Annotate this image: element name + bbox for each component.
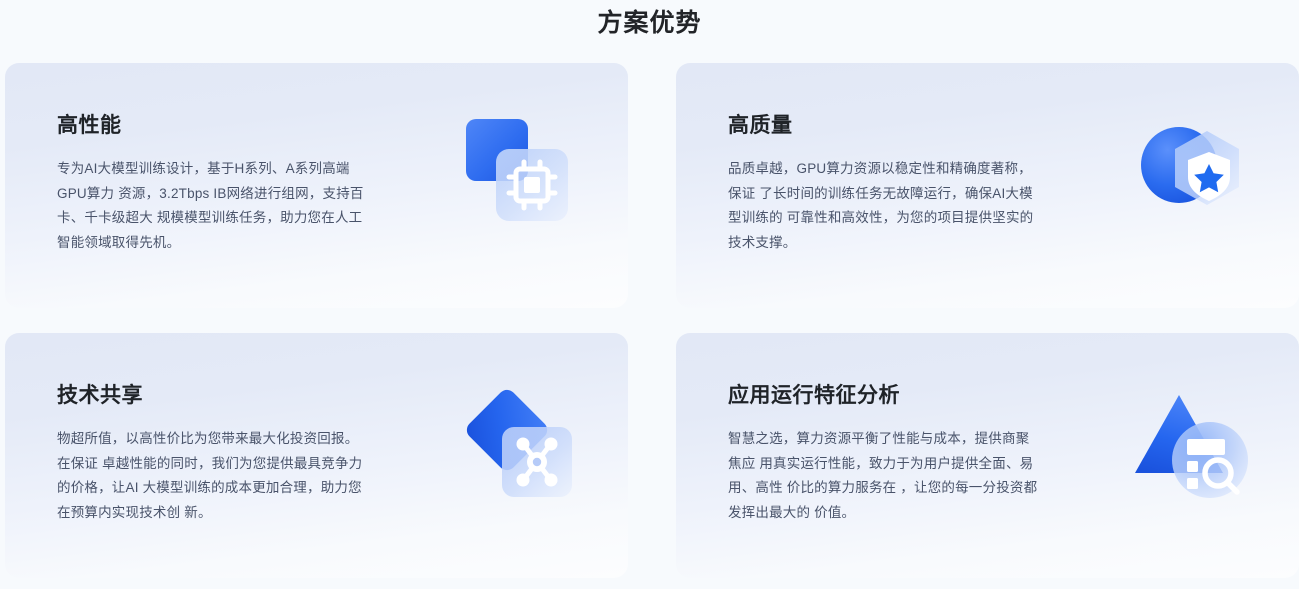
card-description: 物超所值，以高性价比为您带来最大化投资回报。 在保证 卓越性能的同时，我们为您提… bbox=[57, 427, 437, 525]
advantage-card-high-performance[interactable]: 高性能 专为AI大模型训练设计，基于H系列、A系列高端 GPU算力 资源，3.2… bbox=[5, 63, 628, 308]
card-description: 专为AI大模型训练设计，基于H系列、A系列高端 GPU算力 资源，3.2Tbps… bbox=[57, 157, 437, 255]
shield-hexagon-icon bbox=[1129, 111, 1257, 239]
advantages-section: 方案优势 高性能 专为AI大模型训练设计，基于H系列、A系列高端 GPU算力 资… bbox=[0, 0, 1299, 589]
advantage-card-grid: 高性能 专为AI大模型训练设计，基于H系列、A系列高端 GPU算力 资源，3.2… bbox=[0, 63, 1299, 578]
advantage-card-app-runtime-analysis[interactable]: 应用运行特征分析 智慧之选，算力资源平衡了性能与成本，提供商聚 焦应 用真实运行… bbox=[676, 333, 1299, 578]
network-share-diamond-icon bbox=[458, 381, 586, 509]
advantage-card-technology-sharing[interactable]: 技术共享 物超所值，以高性价比为您带来最大化投资回报。 在保证 卓越性能的同时，… bbox=[5, 333, 628, 578]
page-title: 方案优势 bbox=[0, 0, 1299, 46]
card-description: 智慧之选，算力资源平衡了性能与成本，提供商聚 焦应 用真实运行性能，致力于为用户… bbox=[728, 427, 1108, 525]
chip-squares-icon bbox=[458, 111, 586, 239]
card-description: 品质卓越，GPU算力资源以稳定性和精确度著称， 保证 了长时间的训练任务无故障运… bbox=[728, 157, 1108, 255]
document-search-triangle-icon bbox=[1129, 381, 1257, 509]
advantage-card-high-quality[interactable]: 高质量 品质卓越，GPU算力资源以稳定性和精确度著称， 保证 了长时间的训练任务… bbox=[676, 63, 1299, 308]
